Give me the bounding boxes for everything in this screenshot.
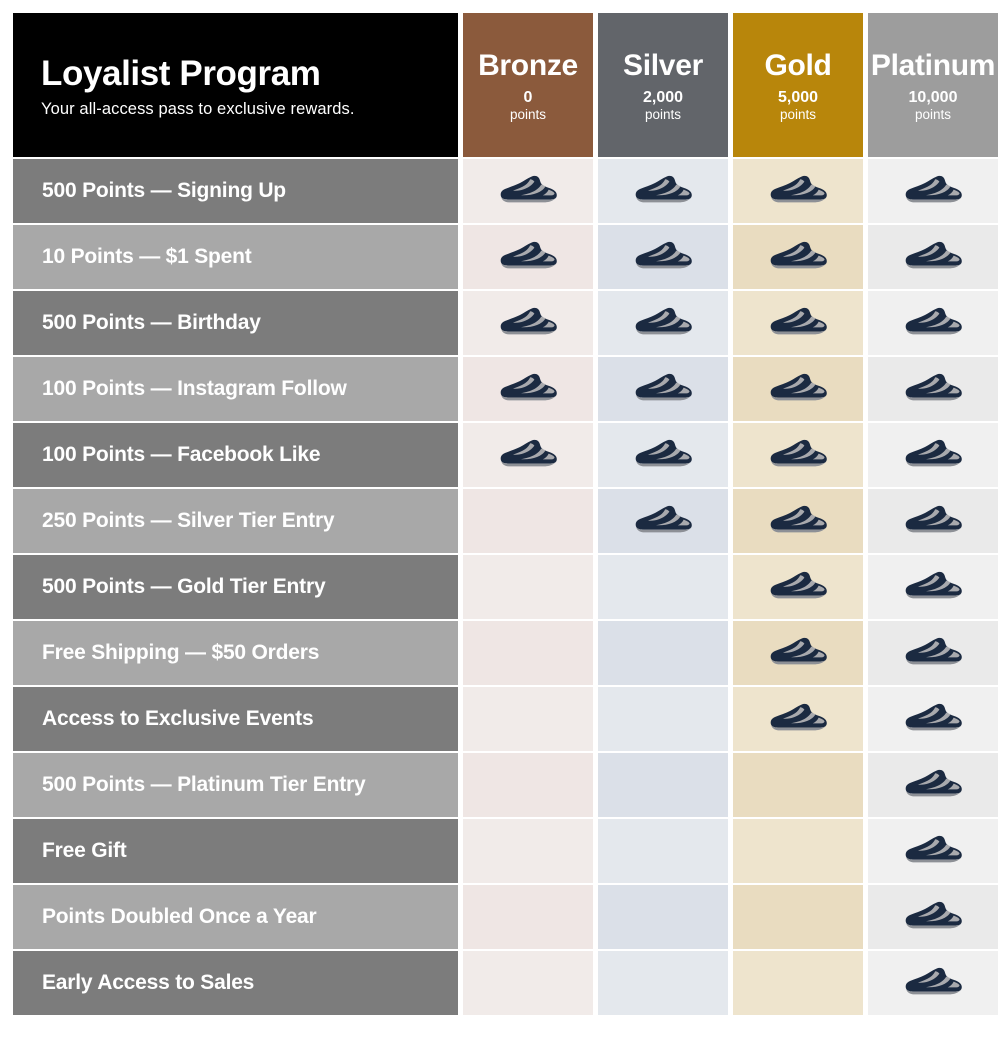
benefit-label-text: Free Gift: [42, 839, 127, 863]
benefit-label: 10 Points — $1 Spent: [13, 225, 458, 289]
benefit-cell-silver[interactable]: [598, 225, 728, 289]
shoe-icon-slot: [902, 898, 964, 937]
program-grid: Loyalist ProgramYour all-access pass to …: [13, 13, 987, 1015]
benefit-cell-gold[interactable]: [733, 423, 863, 487]
shoe-icon: [902, 766, 964, 800]
benefit-label: 500 Points — Platinum Tier Entry: [13, 753, 458, 817]
shoe-icon-slot: [632, 304, 694, 343]
shoe-icon-slot: [767, 502, 829, 541]
benefit-cell-gold[interactable]: [733, 687, 863, 751]
shoe-icon-slot: [767, 436, 829, 475]
benefit-label: 100 Points — Instagram Follow: [13, 357, 458, 421]
shoe-icon: [767, 700, 829, 734]
shoe-icon-slot: [902, 832, 964, 871]
benefit-cell-platinum[interactable]: [868, 687, 998, 751]
tier-points-unit: points: [780, 108, 816, 123]
shoe-icon: [767, 634, 829, 668]
benefit-cell-gold[interactable]: [733, 753, 863, 817]
shoe-icon: [632, 304, 694, 338]
shoe-icon: [902, 304, 964, 338]
tier-name: Silver: [623, 51, 703, 81]
tier-name: Bronze: [478, 51, 578, 81]
tier-points: 5,000: [778, 90, 818, 107]
shoe-icon-slot: [632, 172, 694, 211]
shoe-icon-slot: [497, 370, 559, 409]
shoe-icon-slot: [497, 238, 559, 277]
shoe-icon: [497, 304, 559, 338]
benefit-cell-gold[interactable]: [733, 819, 863, 883]
shoe-icon: [497, 436, 559, 470]
benefit-label-text: 100 Points — Instagram Follow: [42, 377, 347, 401]
benefit-cell-gold[interactable]: [733, 291, 863, 355]
benefit-cell-platinum[interactable]: [868, 159, 998, 223]
shoe-icon-slot: [902, 568, 964, 607]
benefit-cell-bronze[interactable]: [463, 489, 593, 553]
benefit-label: 500 Points — Birthday: [13, 291, 458, 355]
benefit-cell-silver[interactable]: [598, 489, 728, 553]
tier-points-unit: points: [645, 108, 681, 123]
benefit-cell-silver[interactable]: [598, 159, 728, 223]
shoe-icon-slot: [902, 370, 964, 409]
benefit-cell-platinum[interactable]: [868, 291, 998, 355]
benefit-cell-bronze[interactable]: [463, 555, 593, 619]
benefit-cell-silver[interactable]: [598, 357, 728, 421]
benefit-cell-gold[interactable]: [733, 951, 863, 1015]
shoe-icon: [632, 502, 694, 536]
shoe-icon: [767, 370, 829, 404]
shoe-icon: [902, 502, 964, 536]
benefit-cell-platinum[interactable]: [868, 819, 998, 883]
shoe-icon: [902, 700, 964, 734]
shoe-icon: [767, 436, 829, 470]
benefit-label: 500 Points — Gold Tier Entry: [13, 555, 458, 619]
shoe-icon-slot: [902, 172, 964, 211]
shoe-icon-slot: [902, 436, 964, 475]
benefit-cell-platinum[interactable]: [868, 225, 998, 289]
benefit-label-text: 500 Points — Signing Up: [42, 179, 286, 203]
shoe-icon: [902, 898, 964, 932]
benefit-cell-bronze[interactable]: [463, 687, 593, 751]
shoe-icon-slot: [767, 370, 829, 409]
benefit-cell-bronze[interactable]: [463, 159, 593, 223]
benefit-cell-gold[interactable]: [733, 885, 863, 949]
shoe-icon: [902, 634, 964, 668]
shoe-icon: [902, 832, 964, 866]
benefit-cell-silver[interactable]: [598, 753, 728, 817]
benefit-label-text: 10 Points — $1 Spent: [42, 245, 252, 269]
loyalty-program-table: Loyalist ProgramYour all-access pass to …: [0, 0, 1000, 1040]
tier-points: 0: [524, 90, 533, 107]
shoe-icon-slot: [902, 304, 964, 343]
page-subtitle: Your all-access pass to exclusive reward…: [41, 100, 432, 118]
title-cell: Loyalist ProgramYour all-access pass to …: [13, 13, 458, 157]
benefit-label-text: 100 Points — Facebook Like: [42, 443, 320, 467]
benefit-cell-gold[interactable]: [733, 159, 863, 223]
benefit-label-text: Free Shipping — $50 Orders: [42, 641, 319, 665]
shoe-icon: [902, 436, 964, 470]
benefit-label-text: 500 Points — Birthday: [42, 311, 261, 335]
benefit-cell-silver[interactable]: [598, 687, 728, 751]
benefit-label: 500 Points — Signing Up: [13, 159, 458, 223]
benefit-cell-platinum[interactable]: [868, 555, 998, 619]
benefit-cell-gold[interactable]: [733, 489, 863, 553]
tier-name: Gold: [764, 51, 831, 81]
benefit-cell-platinum[interactable]: [868, 489, 998, 553]
benefit-label: Free Shipping — $50 Orders: [13, 621, 458, 685]
shoe-icon-slot: [767, 238, 829, 277]
benefit-cell-gold[interactable]: [733, 225, 863, 289]
benefit-cell-bronze[interactable]: [463, 291, 593, 355]
shoe-icon-slot: [902, 964, 964, 1003]
shoe-icon: [767, 502, 829, 536]
benefit-cell-silver[interactable]: [598, 951, 728, 1015]
tier-header-platinum[interactable]: Platinum10,000points: [868, 13, 998, 157]
benefit-label-text: 500 Points — Gold Tier Entry: [42, 575, 325, 599]
benefit-cell-silver[interactable]: [598, 423, 728, 487]
tier-points: 10,000: [909, 90, 958, 107]
benefit-cell-bronze[interactable]: [463, 357, 593, 421]
program-header: Loyalist ProgramYour all-access pass to …: [13, 13, 458, 157]
benefit-label-text: Points Doubled Once a Year: [42, 905, 317, 929]
shoe-icon: [497, 370, 559, 404]
shoe-icon-slot: [632, 502, 694, 541]
shoe-icon-slot: [902, 700, 964, 739]
benefit-cell-bronze[interactable]: [463, 951, 593, 1015]
shoe-icon-slot: [497, 304, 559, 343]
shoe-icon: [902, 238, 964, 272]
benefit-label-text: 500 Points — Platinum Tier Entry: [42, 773, 365, 797]
benefit-cell-platinum[interactable]: [868, 621, 998, 685]
benefit-cell-silver[interactable]: [598, 621, 728, 685]
benefit-cell-bronze[interactable]: [463, 621, 593, 685]
shoe-icon: [767, 238, 829, 272]
shoe-icon: [632, 172, 694, 206]
tier-header-bronze[interactable]: Bronze0points: [463, 13, 593, 157]
shoe-icon: [497, 172, 559, 206]
shoe-icon-slot: [767, 634, 829, 673]
tier-header-gold[interactable]: Gold5,000points: [733, 13, 863, 157]
shoe-icon-slot: [632, 436, 694, 475]
benefit-cell-platinum[interactable]: [868, 951, 998, 1015]
shoe-icon: [767, 568, 829, 602]
tier-name: Platinum: [871, 51, 995, 81]
shoe-icon-slot: [902, 766, 964, 805]
shoe-icon: [767, 172, 829, 206]
benefit-cell-bronze[interactable]: [463, 753, 593, 817]
benefit-label: Access to Exclusive Events: [13, 687, 458, 751]
shoe-icon: [902, 370, 964, 404]
shoe-icon: [632, 436, 694, 470]
benefit-label: 250 Points — Silver Tier Entry: [13, 489, 458, 553]
shoe-icon: [902, 172, 964, 206]
tier-points: 2,000: [643, 90, 683, 107]
shoe-icon: [902, 568, 964, 602]
benefit-cell-platinum[interactable]: [868, 357, 998, 421]
benefit-cell-bronze[interactable]: [463, 423, 593, 487]
tier-points-unit: points: [915, 108, 951, 123]
benefit-label-text: Early Access to Sales: [42, 971, 254, 995]
benefit-label: Early Access to Sales: [13, 951, 458, 1015]
benefit-cell-bronze[interactable]: [463, 819, 593, 883]
page-title: Loyalist Program: [41, 56, 432, 93]
benefit-cell-bronze[interactable]: [463, 225, 593, 289]
shoe-icon-slot: [497, 172, 559, 211]
benefit-label: 100 Points — Facebook Like: [13, 423, 458, 487]
benefit-label: Points Doubled Once a Year: [13, 885, 458, 949]
shoe-icon: [767, 304, 829, 338]
benefit-cell-gold[interactable]: [733, 621, 863, 685]
shoe-icon-slot: [902, 502, 964, 541]
benefit-cell-platinum[interactable]: [868, 885, 998, 949]
shoe-icon-slot: [497, 436, 559, 475]
benefit-label-text: 250 Points — Silver Tier Entry: [42, 509, 334, 533]
shoe-icon-slot: [632, 370, 694, 409]
shoe-icon-slot: [632, 238, 694, 277]
benefit-cell-silver[interactable]: [598, 885, 728, 949]
benefit-cell-silver[interactable]: [598, 555, 728, 619]
benefit-label-text: Access to Exclusive Events: [42, 707, 313, 731]
benefit-cell-gold[interactable]: [733, 357, 863, 421]
shoe-icon: [902, 964, 964, 998]
benefit-cell-bronze[interactable]: [463, 885, 593, 949]
tier-header-silver[interactable]: Silver2,000points: [598, 13, 728, 157]
shoe-icon-slot: [767, 304, 829, 343]
tier-points-unit: points: [510, 108, 546, 123]
shoe-icon: [497, 238, 559, 272]
benefit-cell-gold[interactable]: [733, 555, 863, 619]
benefit-cell-silver[interactable]: [598, 819, 728, 883]
benefit-cell-platinum[interactable]: [868, 423, 998, 487]
shoe-icon-slot: [902, 238, 964, 277]
shoe-icon-slot: [902, 634, 964, 673]
shoe-icon: [632, 238, 694, 272]
shoe-icon-slot: [767, 172, 829, 211]
benefit-cell-platinum[interactable]: [868, 753, 998, 817]
shoe-icon-slot: [767, 700, 829, 739]
benefit-cell-silver[interactable]: [598, 291, 728, 355]
shoe-icon-slot: [767, 568, 829, 607]
shoe-icon: [632, 370, 694, 404]
benefit-label: Free Gift: [13, 819, 458, 883]
